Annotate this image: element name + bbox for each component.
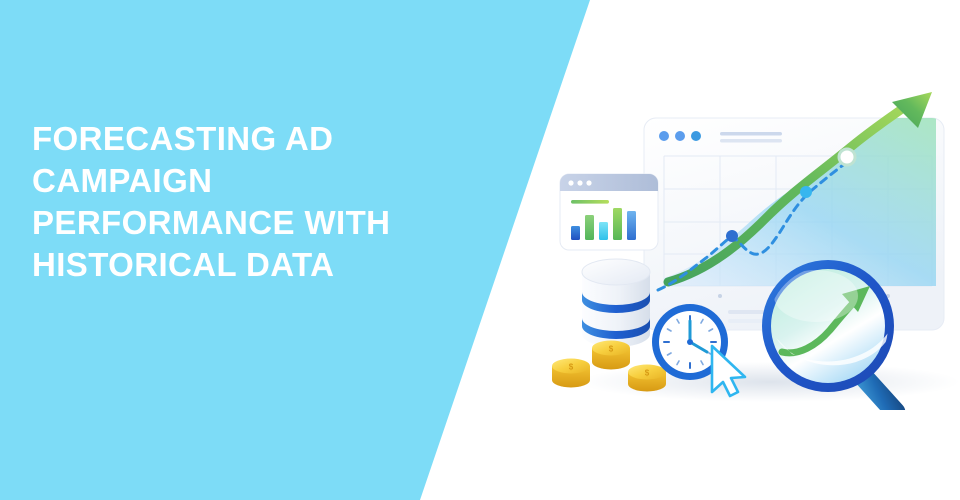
bar-window-dot-1[interactable] bbox=[568, 180, 573, 185]
bar-3[interactable] bbox=[599, 222, 608, 240]
data-forecasting-illustration: $ $ $ bbox=[540, 90, 960, 410]
bar-window-dot-3[interactable] bbox=[586, 180, 591, 185]
bar-window-dot-2[interactable] bbox=[577, 180, 582, 185]
banner-root: Forecasting Ad Campaign Performance With… bbox=[0, 0, 960, 500]
window-dot-1[interactable] bbox=[659, 131, 669, 141]
dashboard-title-placeholder-2 bbox=[720, 139, 782, 143]
database-cylinder[interactable] bbox=[582, 259, 650, 347]
bar-window-header-line bbox=[571, 200, 609, 204]
svg-text:$: $ bbox=[609, 345, 614, 354]
svg-text:$: $ bbox=[645, 369, 650, 378]
bar-1[interactable] bbox=[571, 226, 580, 240]
clock-center-pin bbox=[687, 339, 693, 345]
coin-stack-2: $ bbox=[628, 365, 666, 392]
forecast-marker-1[interactable] bbox=[726, 230, 738, 242]
forecast-marker-2[interactable] bbox=[800, 186, 812, 198]
bar-5[interactable] bbox=[627, 211, 636, 240]
bar-window-titlebar bbox=[560, 174, 658, 191]
window-dot-2[interactable] bbox=[675, 131, 685, 141]
bar-4[interactable] bbox=[613, 208, 622, 240]
coin-stack-3: $ bbox=[592, 341, 630, 370]
window-dot-3[interactable] bbox=[691, 131, 701, 141]
coin-stack-1: $ bbox=[552, 359, 590, 388]
bar-chart-window[interactable] bbox=[560, 174, 658, 250]
svg-text:$: $ bbox=[569, 363, 574, 372]
page-title: Forecasting Ad Campaign Performance With… bbox=[32, 118, 452, 286]
bar-2[interactable] bbox=[585, 215, 594, 240]
dashboard-title-placeholder-1 bbox=[720, 132, 782, 136]
forecast-marker-3[interactable] bbox=[839, 149, 855, 165]
database-top bbox=[582, 259, 650, 285]
